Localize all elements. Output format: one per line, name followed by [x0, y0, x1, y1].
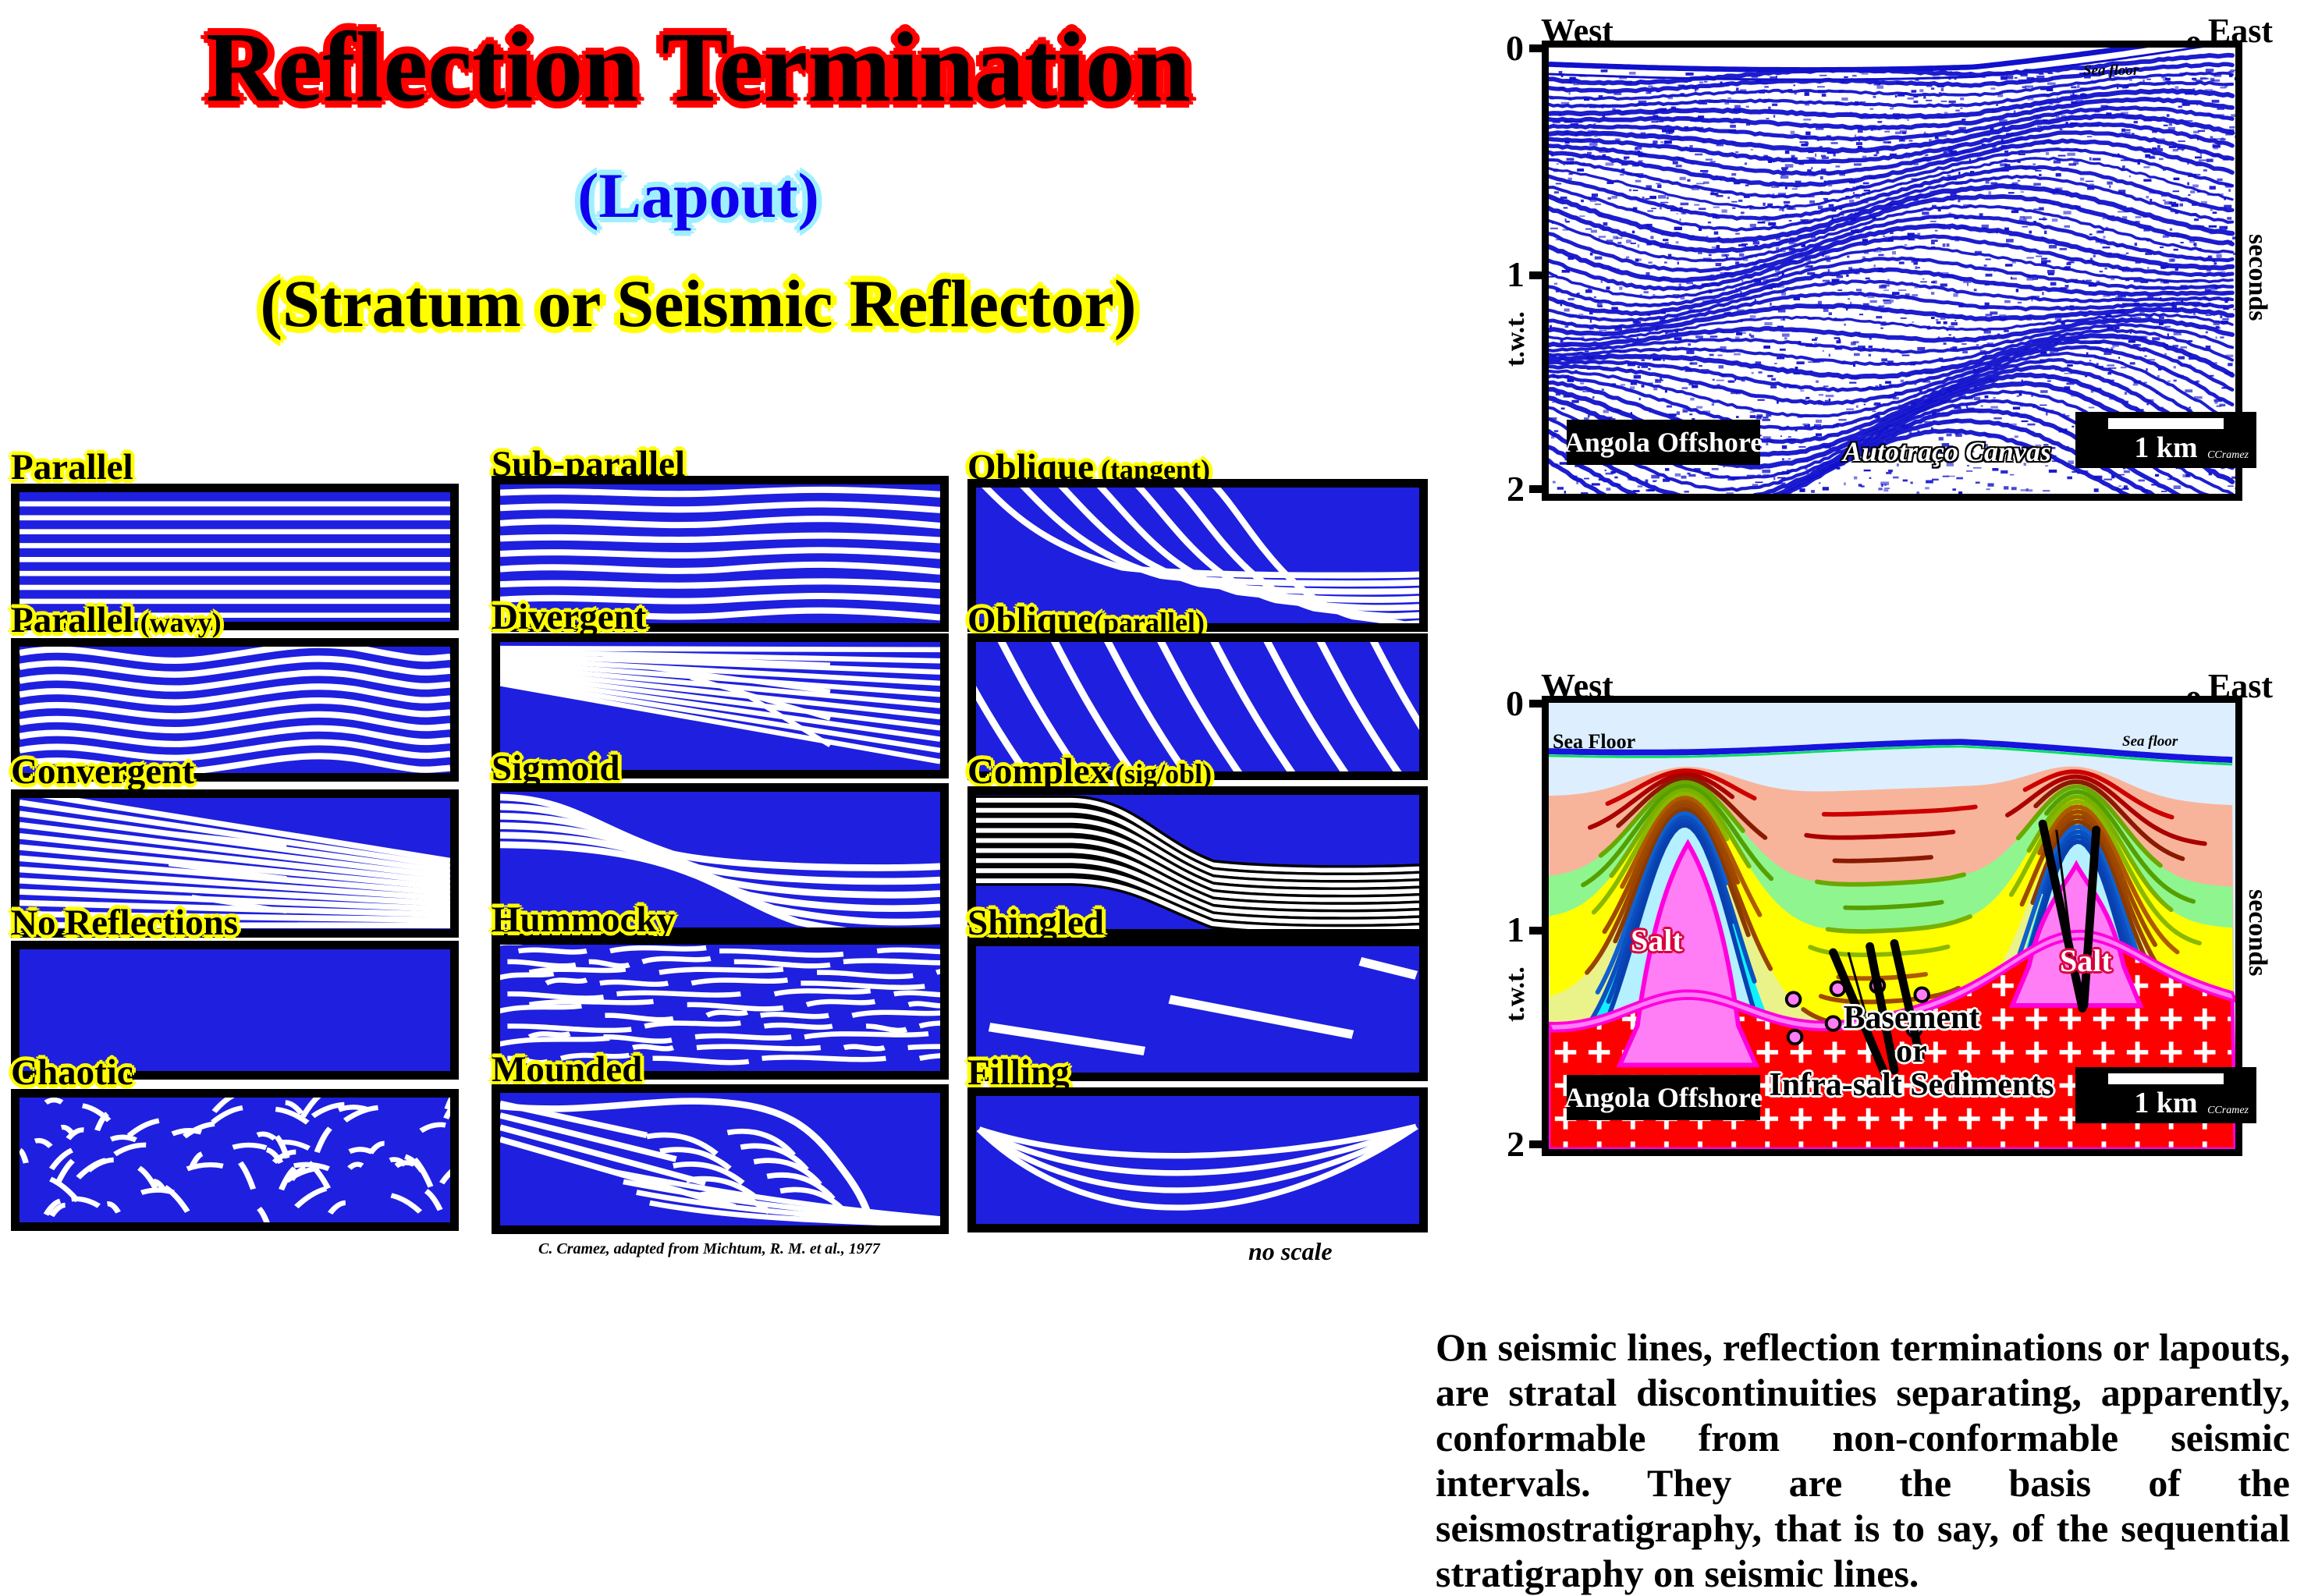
poster-title-block: Reflection Termination (Lapout) (Stratum… [0, 0, 1397, 421]
pattern-label-sub: (wavy) [133, 607, 222, 638]
salt-label-right: Salt [2060, 942, 2112, 979]
scale-bar-line [2108, 418, 2224, 429]
pattern-label-main: Divergent [492, 597, 646, 637]
axis-tick-2-left-raw: 2 [1507, 468, 1525, 509]
scale-bar-interp: 1 km CCramez [2075, 1067, 2256, 1123]
pattern-graphic-mounded [500, 1093, 940, 1225]
caption-text: On seismic lines, reflection termination… [1436, 1325, 2290, 1596]
credit-raw: CCramez [2207, 449, 2249, 462]
pattern-label-divergent: Divergent [492, 599, 646, 636]
location-tag-interp: Angola Offshore [1567, 1075, 1760, 1120]
pattern-label-sub: (sig/obl) [1108, 758, 1212, 789]
credit-interp: CCramez [2207, 1105, 2249, 1117]
basement-label: Basement or Infra-salt Sediments [1740, 1002, 2083, 1101]
basement-line-1: Basement [1740, 1002, 2083, 1035]
axis-tick-1-left-interp: 1 [1507, 909, 1525, 950]
scale-bar-label: 1 km [2134, 1088, 2197, 1118]
salt-label-left: Salt [1631, 922, 1683, 959]
pattern-label-main: No Reflections [11, 903, 238, 943]
axis-tick-1-left-raw: 1 [1507, 254, 1525, 295]
axis-label-twt-interp: t.w.t. [1501, 966, 1531, 1022]
pattern-label-main: Hummocky [492, 899, 675, 940]
seismic-raw-panel: West East 0 1 2 0 1 2 t.w.t. seconds Sea… [1397, 0, 2304, 624]
pattern-label-shingled: Shingled [967, 905, 1104, 942]
pattern-label-main: Parallel [11, 600, 133, 640]
pattern-label-sigmoid: Sigmoid [492, 750, 620, 787]
pattern-graphic-chaotic [20, 1098, 450, 1222]
axis-label-seconds-interp: seconds [2242, 889, 2272, 976]
page-title: Reflection Termination [0, 17, 1397, 117]
pattern-panel-filling [967, 1087, 1428, 1232]
location-tag-raw: Angola Offshore [1567, 420, 1760, 465]
pattern-label-hummocky: Hummocky [492, 902, 675, 938]
pattern-graphic-filling [976, 1096, 1419, 1224]
pattern-label-no-reflections: No Reflections [11, 905, 238, 942]
scale-bar-line [2108, 1073, 2224, 1084]
pattern-label-complex-sig-obl: Complex (sig/obl) [967, 754, 1212, 790]
axis-tick-2-left-interp: 2 [1507, 1123, 1525, 1165]
pattern-panel-mounded [492, 1084, 949, 1234]
axis-tick-0-left-raw: 0 [1506, 27, 1524, 69]
scale-bar-raw: 1 km CCramez [2075, 412, 2256, 468]
seismic-interpreted-panel: West East 0 1 2 0 1 2 t.w.t. seconds Sea… [1397, 655, 2304, 1279]
pattern-label-parallel-wavy: Parallel (wavy) [11, 602, 222, 639]
pattern-label-main: Convergent [11, 751, 194, 792]
pattern-panel-chaotic [11, 1089, 459, 1231]
pattern-label-chaotic: Chaotic [11, 1055, 133, 1091]
axis-tick-0-left-interp: 0 [1506, 683, 1524, 724]
basement-line-2: or [1740, 1035, 2083, 1069]
basement-line-3: Infra-salt Sediments [1740, 1069, 2083, 1102]
pattern-label-main: Parallel [11, 447, 133, 488]
sea-floor-label-left-interp: Sea Floor [1553, 730, 1635, 754]
pattern-label-convergent: Convergent [11, 754, 194, 790]
subtitle-lapout: (Lapout) [0, 164, 1397, 228]
scale-bar-label: 1 km [2134, 433, 2197, 463]
pattern-label-filling: Filling [967, 1055, 1070, 1091]
attribution-credit: C. Cramez, adapted from Michtum, R. M. e… [538, 1240, 880, 1258]
axis-label-twt-raw: t.w.t. [1501, 311, 1531, 367]
pattern-label-mounded: Mounded [492, 1052, 642, 1088]
pattern-label-parallel: Parallel [11, 449, 133, 486]
watermark-raw: Autotraço Canvas [1843, 435, 2051, 468]
pattern-label-main: Chaotic [11, 1052, 133, 1093]
sea-floor-label-right-interp: Sea floor [2122, 733, 2178, 750]
axis-label-seconds-raw: seconds [2242, 234, 2272, 321]
subtitle-stratum: (Stratum or Seismic Reflector) [0, 270, 1397, 337]
sea-floor-label-raw: Sea floor [2083, 62, 2139, 80]
no-scale-note: no scale [1248, 1237, 1333, 1266]
